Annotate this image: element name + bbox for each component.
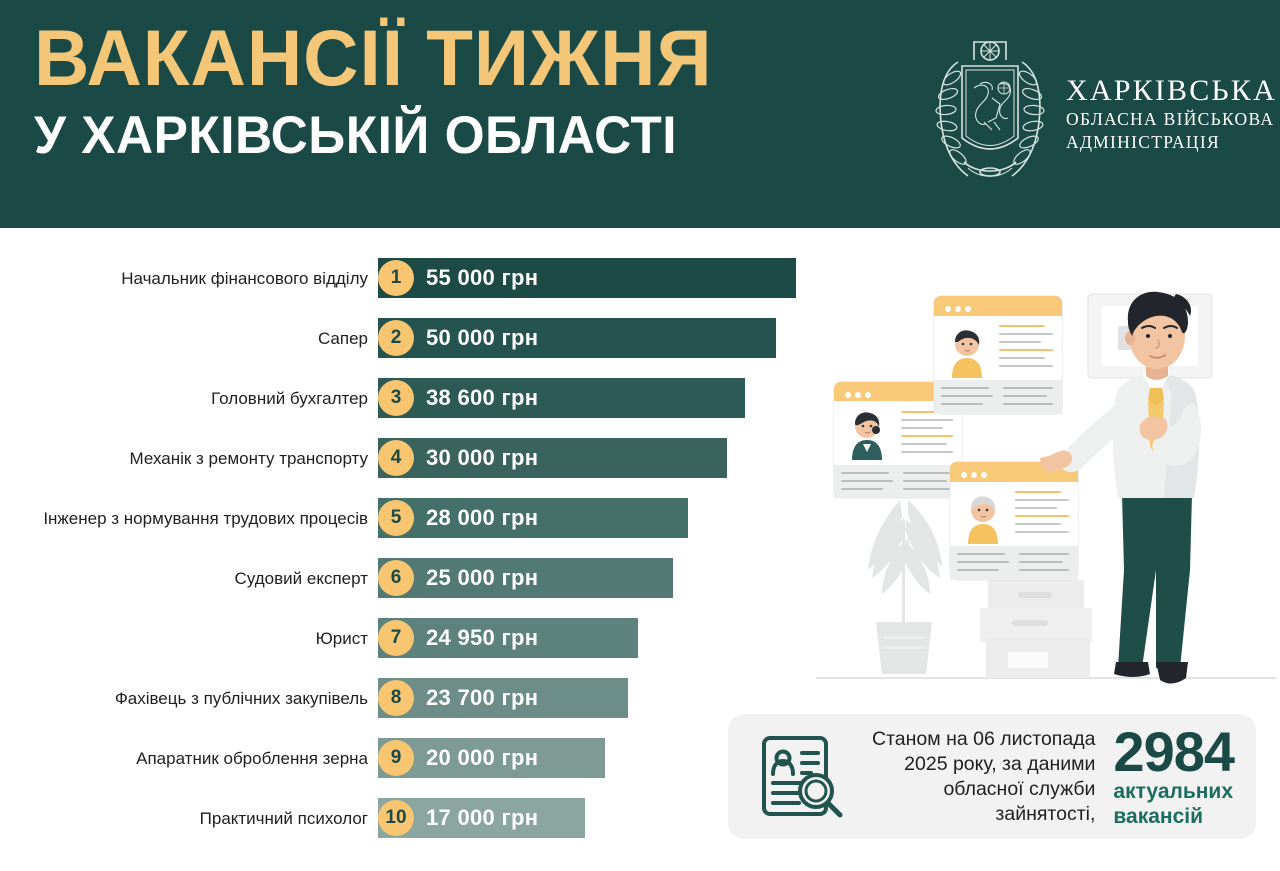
chart-bar-value: 55 000 грн bbox=[426, 258, 538, 298]
chart-bar-value: 38 600 грн bbox=[426, 378, 538, 418]
chart-bar-value: 20 000 грн bbox=[426, 738, 538, 778]
chart-rank-badge: 7 bbox=[378, 620, 414, 656]
chart-row-label: Начальник фінансового відділу bbox=[38, 258, 368, 298]
vacancy-count-number: 2984 bbox=[1113, 725, 1234, 779]
infographic-page: ВАКАНСІЇ ТИЖНЯ У ХАРКІВСЬКІЙ ОБЛАСТІ bbox=[0, 0, 1280, 871]
chart-bar-value: 25 000 грн bbox=[426, 558, 538, 598]
chart-row-label: Судовий експерт bbox=[38, 558, 368, 598]
logo-line-3: АДМІНІСТРАЦІЯ bbox=[1066, 131, 1277, 154]
page-title: ВАКАНСІЇ ТИЖНЯ У ХАРКІВСЬКІЙ ОБЛАСТІ bbox=[34, 16, 734, 166]
plant-icon bbox=[868, 500, 942, 674]
summary-text-line-4: зайнятості, bbox=[862, 802, 1095, 827]
chart-row: Судовий експерт625 000 грн bbox=[0, 558, 820, 618]
chart-row-label: Апаратник оброблення зерна bbox=[38, 738, 368, 778]
logo-line-2: ОБЛАСНА ВІЙСЬКОВА bbox=[1066, 108, 1277, 131]
chart-row-label: Сапер bbox=[38, 318, 368, 358]
chart-row: Сапер250 000 грн bbox=[0, 318, 820, 378]
organization-logo: ХАРКІВСЬКА ОБЛАСНА ВІЙСЬКОВА АДМІНІСТРАЦ… bbox=[928, 26, 1277, 196]
summary-info-box: Станом на 06 листопада 2025 року, за дан… bbox=[728, 714, 1256, 839]
cv-card-bottom bbox=[950, 462, 1078, 580]
chart-row-label: Інженер з нормування трудових процесів bbox=[38, 495, 368, 541]
vacancy-count-block: 2984 актуальних вакансій bbox=[1113, 725, 1234, 829]
chart-row-label: Фахівець з публічних закупівель bbox=[38, 678, 368, 718]
job-candidate-selection-illustration bbox=[812, 270, 1280, 700]
chart-bar-value: 50 000 грн bbox=[426, 318, 538, 358]
chart-bar-value: 28 000 грн bbox=[426, 498, 538, 538]
chart-rank-badge: 8 bbox=[378, 680, 414, 716]
chart-row-label: Юрист bbox=[38, 618, 368, 658]
chart-row: Юрист724 950 грн bbox=[0, 618, 820, 678]
chart-rank-badge: 5 bbox=[378, 500, 414, 536]
cabinet-icon bbox=[980, 580, 1092, 678]
chart-row: Практичний психолог1017 000 грн bbox=[0, 798, 820, 858]
header-band: ВАКАНСІЇ ТИЖНЯ У ХАРКІВСЬКІЙ ОБЛАСТІ bbox=[0, 0, 1280, 228]
chart-rank-badge: 2 bbox=[378, 320, 414, 356]
title-subtitle: У ХАРКІВСЬКІЙ ОБЛАСТІ bbox=[34, 106, 713, 166]
chart-bar-value: 24 950 грн bbox=[426, 618, 538, 658]
title-main: ВАКАНСІЇ ТИЖНЯ bbox=[34, 16, 713, 100]
woman-dark-hair-avatar-icon bbox=[840, 406, 894, 464]
chart-row: Головний бухгалтер338 600 грн bbox=[0, 378, 820, 438]
chart-bar-value: 17 000 грн bbox=[426, 798, 538, 838]
resume-search-icon bbox=[756, 731, 848, 823]
chart-row: Інженер з нормування трудових процесів52… bbox=[0, 498, 820, 558]
vacancy-salary-bar-chart: Начальник фінансового відділу155 000 грн… bbox=[0, 228, 820, 871]
chart-rank-badge: 1 bbox=[378, 260, 414, 296]
vacancy-count-label-2: вакансій bbox=[1113, 804, 1234, 829]
logo-line-1: ХАРКІВСЬКА bbox=[1066, 74, 1277, 108]
chart-row: Фахівець з публічних закупівель823 700 г… bbox=[0, 678, 820, 738]
chart-rank-badge: 4 bbox=[378, 440, 414, 476]
chart-row-label: Механік з ремонту транспорту bbox=[38, 438, 368, 478]
summary-text-line-1: Станом на 06 листопада bbox=[862, 727, 1095, 752]
chart-rank-badge: 3 bbox=[378, 380, 414, 416]
kharkiv-coat-of-arms-icon bbox=[928, 26, 1052, 196]
chart-row: Механік з ремонту транспорту430 000 грн bbox=[0, 438, 820, 498]
summary-text: Станом на 06 листопада 2025 року, за дан… bbox=[862, 727, 1103, 827]
cv-card-top bbox=[934, 296, 1062, 414]
chart-row: Апаратник оброблення зерна920 000 грн bbox=[0, 738, 820, 798]
summary-text-line-3: обласної служби bbox=[862, 777, 1095, 802]
chart-rank-badge: 6 bbox=[378, 560, 414, 596]
chart-row-label: Головний бухгалтер bbox=[38, 378, 368, 418]
chart-bar-value: 23 700 грн bbox=[426, 678, 538, 718]
chart-row: Начальник фінансового відділу155 000 грн bbox=[0, 258, 820, 318]
chart-row-label: Практичний психолог bbox=[38, 798, 368, 838]
summary-text-line-2: 2025 року, за даними bbox=[862, 752, 1095, 777]
chart-bar-value: 30 000 грн bbox=[426, 438, 538, 478]
chart-rank-badge: 9 bbox=[378, 740, 414, 776]
vacancy-count-label-1: актуальних bbox=[1113, 779, 1234, 804]
chart-rank-badge: 10 bbox=[378, 800, 414, 836]
logo-text-block: ХАРКІВСЬКА ОБЛАСНА ВІЙСЬКОВА АДМІНІСТРАЦ… bbox=[1066, 68, 1277, 154]
